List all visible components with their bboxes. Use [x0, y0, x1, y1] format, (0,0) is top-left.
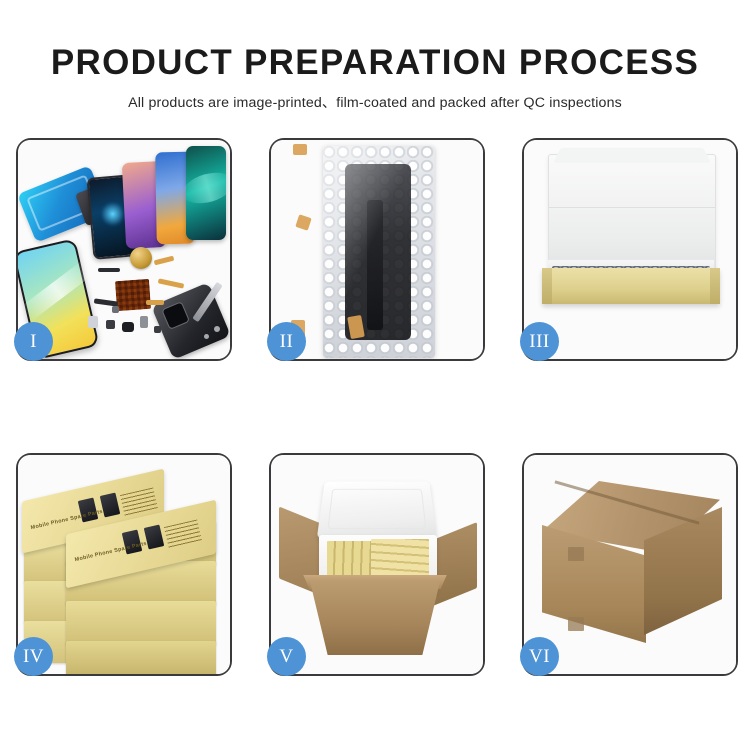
step-badge-3: III: [520, 322, 559, 361]
process-step-card-4[interactable]: Mobile Phone Spare Parts Mobile Phone Sp…: [16, 453, 232, 676]
step-badge-1: I: [14, 322, 53, 361]
process-step-card-6[interactable]: VI: [522, 453, 738, 676]
yellow-box-tray: [542, 268, 720, 304]
small-component: [88, 316, 98, 328]
phone-screen-teal: [186, 146, 226, 240]
flex-cable-part: [154, 256, 175, 266]
carton-tape-tab: [568, 547, 584, 561]
bubble-wrap-illustration: [271, 140, 483, 359]
bubble-wrap-pouch: [323, 146, 435, 358]
header: PRODUCT PREPARATION PROCESS All products…: [0, 0, 750, 112]
process-step-card-1[interactable]: I: [16, 138, 232, 361]
open-flat-box-illustration: [524, 140, 736, 359]
small-component: [106, 320, 115, 329]
process-row-2: Mobile Phone Spare Parts Mobile Phone Sp…: [16, 453, 738, 676]
screw-component: [204, 334, 209, 339]
flex-cable-part: [98, 268, 120, 272]
carton-styrofoam-illustration: [271, 455, 483, 674]
stacked-box: [66, 641, 216, 674]
step-badge-2: II: [267, 322, 306, 361]
tray-right-wall: [710, 268, 720, 304]
process-row-1: I II: [16, 138, 738, 361]
process-grid: I II: [16, 138, 738, 676]
step-badge-4: IV: [14, 637, 53, 676]
carton-body: [301, 581, 449, 655]
flex-cable-part: [146, 300, 164, 305]
small-component: [140, 316, 148, 328]
step-badge-5: V: [267, 637, 306, 676]
sealed-carton-illustration: [524, 455, 736, 674]
box-stack: Mobile Phone Spare Parts Mobile Phone Sp…: [18, 455, 230, 674]
phone-back-housing: [151, 282, 230, 359]
screw-component: [214, 326, 220, 332]
pcb-grid-part: [115, 279, 151, 311]
infographic-page: PRODUCT PREPARATION PROCESS All products…: [0, 0, 750, 750]
tape-piece: [295, 214, 311, 230]
flex-cable-part: [158, 278, 184, 288]
stacked-boxes-illustration: Mobile Phone Spare Parts Mobile Phone Sp…: [18, 455, 230, 674]
phone-fan-group: [90, 146, 230, 256]
process-step-card-3[interactable]: III: [522, 138, 738, 361]
tape-piece: [293, 144, 307, 155]
tray-left-wall: [542, 268, 552, 304]
white-foam-lid: [548, 154, 716, 274]
styrofoam-lid: [317, 482, 437, 539]
stacked-box: [66, 601, 216, 645]
small-component: [154, 326, 161, 333]
plastic-sheen: [323, 146, 435, 358]
step-badge-6: VI: [520, 637, 559, 676]
parts-spread-illustration: [18, 140, 230, 359]
small-component: [122, 322, 134, 332]
page-subtitle: All products are image-printed、film-coat…: [0, 92, 750, 112]
carton-tape-tab: [568, 617, 584, 631]
small-component: [112, 306, 119, 313]
page-title: PRODUCT PREPARATION PROCESS: [0, 44, 750, 82]
process-step-card-2[interactable]: II: [269, 138, 485, 361]
process-step-card-5[interactable]: V: [269, 453, 485, 676]
gold-coil-part: [130, 247, 152, 269]
